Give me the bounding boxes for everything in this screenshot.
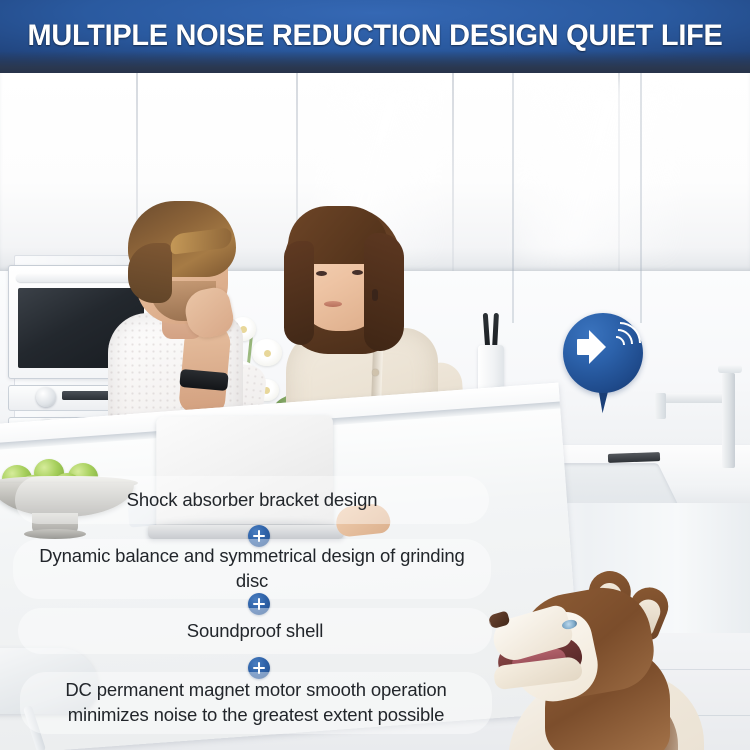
header-banner: MULTIPLE NOISE REDUCTION DESIGN QUIET LI… — [0, 0, 750, 73]
product-feature-banner: MULTIPLE NOISE REDUCTION DESIGN QUIET LI… — [0, 0, 750, 750]
feature-pill-shock-absorber: Shock absorber bracket design — [15, 476, 489, 524]
banner-title: MULTIPLE NOISE REDUCTION DESIGN QUIET LI… — [13, 19, 737, 53]
feature-pill-dynamic-balance: Dynamic balance and symmetrical design o… — [13, 539, 491, 599]
feature-pill-dc-motor: DC permanent magnet motor smooth operati… — [20, 672, 492, 734]
feature-text: Dynamic balance and symmetrical design o… — [39, 544, 465, 593]
feature-text: DC permanent magnet motor smooth operati… — [46, 678, 466, 727]
feature-text: Soundproof shell — [187, 619, 323, 644]
feature-list: Shock absorber bracket design Dynamic ba… — [0, 0, 750, 750]
feature-text: Shock absorber bracket design — [127, 488, 378, 513]
feature-pill-soundproof-shell: Soundproof shell — [18, 608, 492, 654]
